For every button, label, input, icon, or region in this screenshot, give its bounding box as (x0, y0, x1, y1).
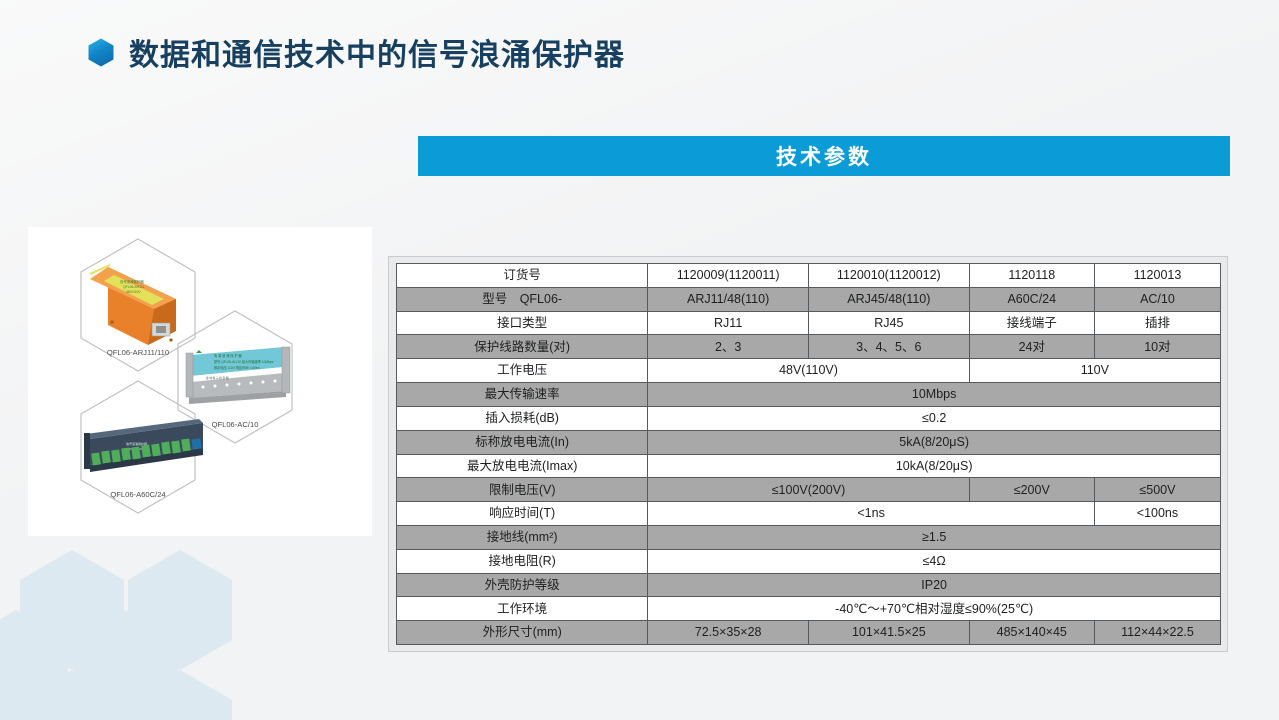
product-image-arj11: 信号浪涌保护器 QFL06-ARJ11 48V/110V (90, 265, 176, 345)
svg-text:QFL06-ARJ11: QFL06-ARJ11 (123, 285, 145, 289)
svg-text:48V/110V: 48V/110V (126, 290, 141, 294)
svg-text:额定电压 110V 响应时间 <100ns: 额定电压 110V 响应时间 <100ns (214, 365, 260, 370)
spec-cell: ≤0.2 (648, 406, 1221, 430)
table-row: 订货号1120009(1120011)1120010(1120012)11201… (397, 264, 1221, 288)
table-row: 保护线路数量(对)2、33、4、5、624对10对 (397, 335, 1221, 359)
table-row: 工作电压48V(110V)110V (397, 359, 1221, 383)
spec-cell: 72.5×35×28 (648, 621, 809, 645)
spec-cell: ARJ11/48(110) (648, 287, 809, 311)
table-row: 限制电压(V)≤100V(200V)≤200V≤500V (397, 478, 1221, 502)
spec-cell: 110V (969, 359, 1220, 383)
spec-row-label: 最大放电电流(Imax) (397, 454, 648, 478)
product-image-ac10: 电 源 浪 涌 保 护 器 型号 QFL06-AC/10 最大传输速率 10Mb… (186, 347, 290, 404)
product-caption-ac10: QFL06-AC/10 (212, 420, 259, 429)
spec-cell: 1120013 (1094, 264, 1220, 288)
spec-cell: IP20 (648, 573, 1221, 597)
spec-row-label: 接地线(mm²) (397, 525, 648, 549)
svg-text:接 地 端 子 排 列 图: 接 地 端 子 排 列 图 (206, 376, 229, 380)
spec-cell: 2、3 (648, 335, 809, 359)
spec-cell: ≤200V (969, 478, 1094, 502)
table-row: 插入损耗(dB)≤0.2 (397, 406, 1221, 430)
spec-cell: 1120010(1120012) (808, 264, 969, 288)
spec-cell: ≥1.5 (648, 525, 1221, 549)
product-hexagon-collage: 信号浪涌保护器 QFL06-ARJ11 48V/110V QFL06-ARJ11… (28, 227, 372, 536)
table-row: 响应时间(T)<1ns<100ns (397, 502, 1221, 526)
spec-row-label: 最大传输速率 (397, 383, 648, 407)
spec-cell: 1120118 (969, 264, 1094, 288)
table-row: 接口类型RJ11RJ45接线端子插排 (397, 311, 1221, 335)
spec-row-label: 插入损耗(dB) (397, 406, 648, 430)
table-row: 型号 QFL06-ARJ11/48(110)ARJ45/48(110)A60C/… (397, 287, 1221, 311)
table-row: 接地电阻(R)≤4Ω (397, 549, 1221, 573)
spec-row-label: 工作环境 (397, 597, 648, 621)
spec-cell: RJ45 (808, 311, 969, 335)
product-image-a60c: 信号浪涌保护器 QFL06-A60C/24 (84, 419, 203, 472)
spec-cell: 插排 (1094, 311, 1220, 335)
spec-row-label: 工作电压 (397, 359, 648, 383)
spec-row-label: 外形尺寸(mm) (397, 621, 648, 645)
spec-row-label: 外壳防护等级 (397, 573, 648, 597)
svg-text:型号 QFL06-AC/10 最大传输速率 10Mbps: 型号 QFL06-AC/10 最大传输速率 10Mbps (214, 359, 274, 364)
product-caption-a60c: QFL06-A60C/24 (110, 490, 165, 499)
spec-cell: AC/10 (1094, 287, 1220, 311)
spec-row-label: 标称放电电流(In) (397, 430, 648, 454)
spec-cell: ≤100V(200V) (648, 478, 969, 502)
spec-cell: 112×44×22.5 (1094, 621, 1220, 645)
spec-cell: <100ns (1094, 502, 1220, 526)
product-image-panel: 信号浪涌保护器 QFL06-ARJ11 48V/110V QFL06-ARJ11… (28, 227, 372, 536)
spec-cell: <1ns (648, 502, 1095, 526)
spec-cell: ≤500V (1094, 478, 1220, 502)
spec-cell: RJ11 (648, 311, 809, 335)
spec-cell: 24对 (969, 335, 1094, 359)
table-row: 工作环境-40℃～+70℃相对湿度≤90%(25℃) (397, 597, 1221, 621)
spec-row-label: 限制电压(V) (397, 478, 648, 502)
spec-cell: 10对 (1094, 335, 1220, 359)
spec-cell: 3、4、5、6 (808, 335, 969, 359)
slide-title-row: 数据和通信技术中的信号浪涌保护器 (88, 30, 625, 74)
section-banner: 技术参数 (418, 136, 1230, 176)
svg-text:信号浪涌保护器: 信号浪涌保护器 (120, 279, 144, 284)
spec-row-label: 订货号 (397, 264, 648, 288)
tech-spec-table: 订货号1120009(1120011)1120010(1120012)11201… (396, 263, 1221, 645)
spec-row-label: 响应时间(T) (397, 502, 648, 526)
spec-cell: 10kA(8/20μS) (648, 454, 1221, 478)
spec-row-label: 保护线路数量(对) (397, 335, 648, 359)
spec-cell: A60C/24 (969, 287, 1094, 311)
table-row: 最大放电电流(Imax)10kA(8/20μS) (397, 454, 1221, 478)
svg-text:电 源 浪 涌 保 护 器: 电 源 浪 涌 保 护 器 (214, 353, 242, 358)
hexagon-bullet-icon (88, 38, 114, 67)
product-caption-arj11: QFL06-ARJ11/110 (107, 348, 169, 357)
spec-cell: 1120009(1120011) (648, 264, 809, 288)
spec-cell: -40℃～+70℃相对湿度≤90%(25℃) (648, 597, 1221, 621)
spec-cell: 5kA(8/20μS) (648, 430, 1221, 454)
section-banner-label: 技术参数 (776, 141, 872, 171)
spec-row-label: 型号 QFL06- (397, 287, 648, 311)
spec-row-label: 接地电阻(R) (397, 549, 648, 573)
page-title: 数据和通信技术中的信号浪涌保护器 (129, 30, 625, 74)
table-row: 外形尺寸(mm)72.5×35×28101×41.5×25485×140×451… (397, 621, 1221, 645)
spec-cell: 48V(110V) (648, 359, 969, 383)
spec-cell: 接线端子 (969, 311, 1094, 335)
spec-cell: 10Mbps (648, 383, 1221, 407)
table-row: 最大传输速率10Mbps (397, 383, 1221, 407)
spec-cell: ARJ45/48(110) (808, 287, 969, 311)
spec-cell: ≤4Ω (648, 549, 1221, 573)
tech-spec-table-container: 订货号1120009(1120011)1120010(1120012)11201… (388, 256, 1228, 652)
spec-row-label: 接口类型 (397, 311, 648, 335)
table-row: 外壳防护等级IP20 (397, 573, 1221, 597)
table-row: 接地线(mm²)≥1.5 (397, 525, 1221, 549)
background-hexagon-pattern (0, 510, 340, 720)
spec-cell: 485×140×45 (969, 621, 1094, 645)
spec-cell: 101×41.5×25 (808, 621, 969, 645)
table-row: 标称放电电流(In)5kA(8/20μS) (397, 430, 1221, 454)
